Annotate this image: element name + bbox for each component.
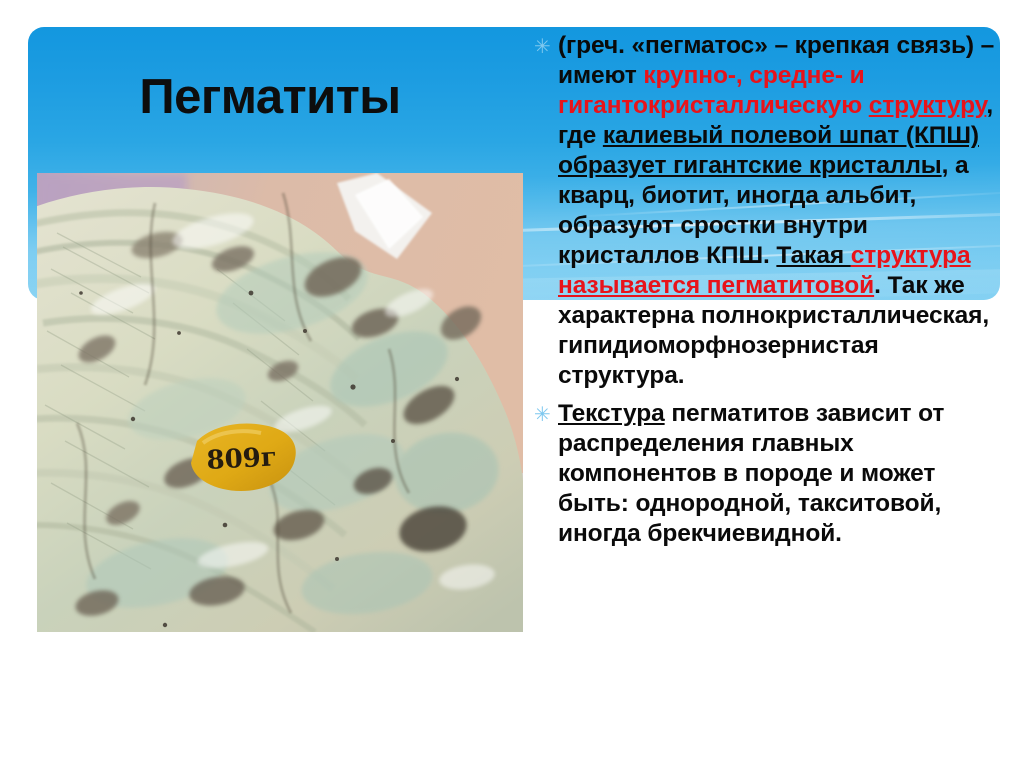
asterisk-bullet-icon: ✳ [528,31,558,61]
pegmatite-rock-photo: 2 [37,173,523,632]
rock-sample-illustration: 2 [37,173,523,632]
asterisk-bullet-icon: ✳ [528,399,558,429]
seg-underline: калиевый полевой шпат (КПШ) образует гиг… [558,122,979,179]
seg-underline: Такая [776,242,850,269]
bullet-text-2: Текстура пегматитов зависит от распредел… [558,399,1008,549]
bullet-item: ✳ (греч. «пегматос» – крепкая связь) – и… [528,31,1008,391]
body-text-column: ✳ (греч. «пегматос» – крепкая связь) – и… [528,31,1008,557]
page-title: Пегматиты [40,72,500,123]
seg-underline: Текстура [558,400,665,427]
bullet-item: ✳ Текстура пегматитов зависит от распред… [528,399,1008,549]
svg-text:809г: 809г [206,442,278,476]
slide: Пегматиты [0,0,1024,768]
seg-red-underline: структуру [869,92,987,119]
bullet-text-1: (греч. «пегматос» – крепкая связь) – име… [558,31,1008,391]
